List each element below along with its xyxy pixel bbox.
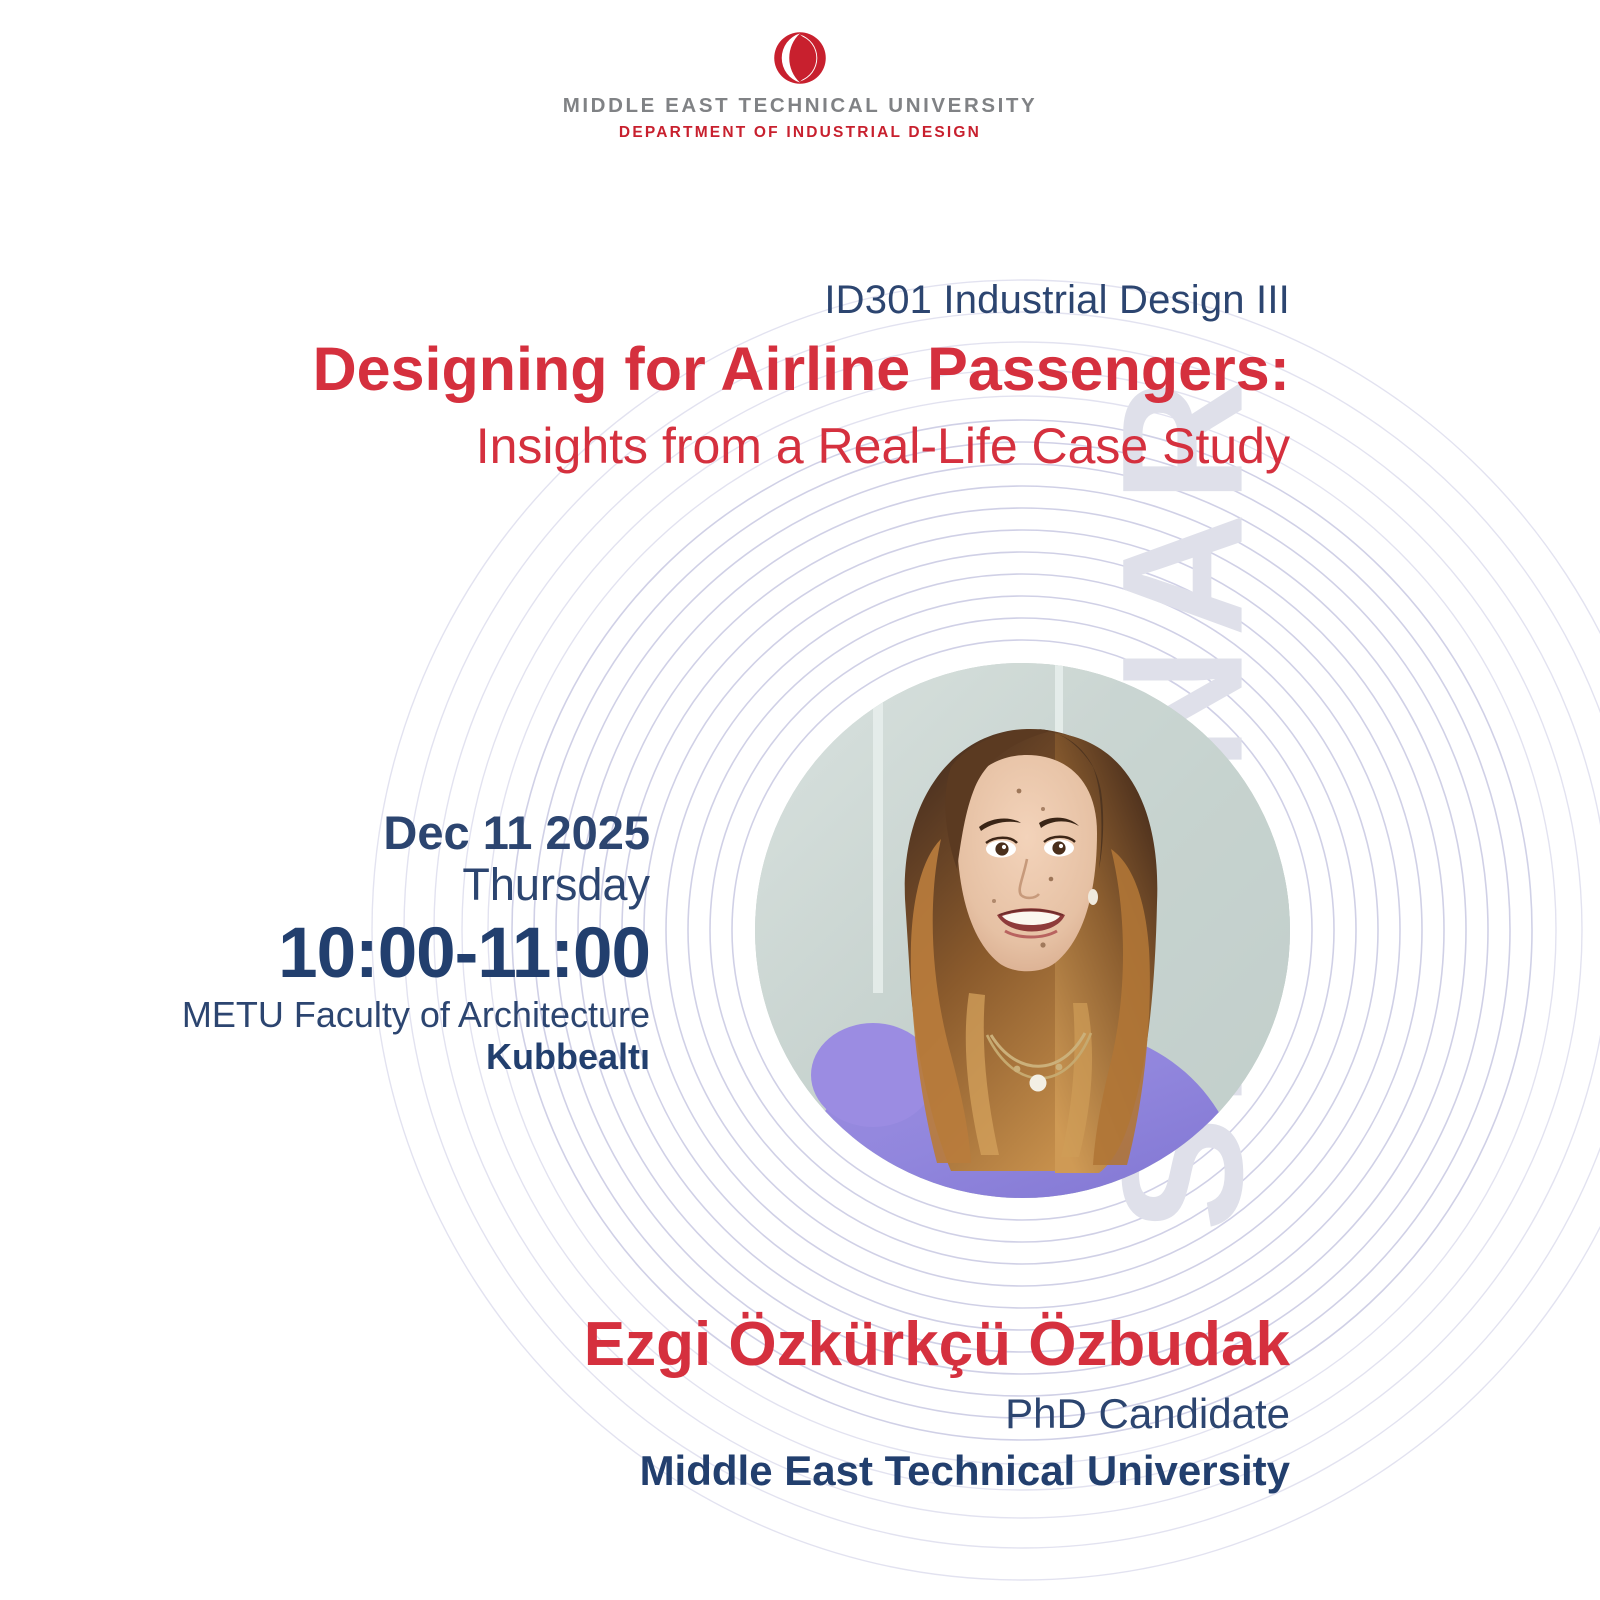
talk-title: Designing for Airline Passengers: [60, 334, 1290, 406]
event-room: Kubbealtı [60, 1037, 650, 1077]
logo-university-name: MIDDLE EAST TECHNICAL UNIVERSITY [0, 94, 1600, 118]
speaker-role: PhD Candidate [60, 1389, 1290, 1439]
event-time: 10:00-11:00 [60, 917, 650, 991]
speaker-name: Ezgi Özkürkçü Özbudak [60, 1310, 1290, 1379]
talk-subtitle: Insights from a Real-Life Case Study [60, 416, 1290, 476]
speaker-portrait [755, 663, 1290, 1198]
metu-circle-lens-logo-icon [772, 30, 828, 86]
logo-department-name: DEPARTMENT OF INDUSTRIAL DESIGN [0, 124, 1600, 142]
seminar-poster: SEMINAR MIDDLE EAST TECHNICAL UNIVERSITY… [0, 0, 1600, 1600]
headline-group: ID301 Industrial Design III Designing fo… [60, 278, 1290, 476]
course-code: ID301 Industrial Design III [60, 278, 1290, 322]
speaker-organization: Middle East Technical University [60, 1446, 1290, 1496]
event-date: Dec 11 2025 [60, 808, 650, 858]
speaker-credit-group: Ezgi Özkürkçü Özbudak PhD Candidate Midd… [60, 1310, 1290, 1496]
metu-logo-lockup: MIDDLE EAST TECHNICAL UNIVERSITY DEPARTM… [0, 30, 1600, 142]
event-details-group: Dec 11 2025 Thursday 10:00-11:00 METU Fa… [60, 808, 650, 1078]
event-weekday: Thursday [60, 860, 650, 910]
event-venue: METU Faculty of Architecture [60, 995, 650, 1035]
